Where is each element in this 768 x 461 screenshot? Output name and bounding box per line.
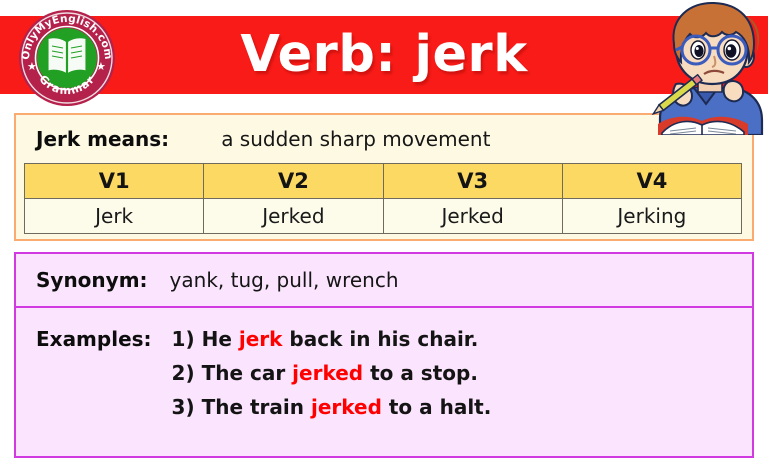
svg-text:★: ★ — [96, 60, 106, 73]
example-highlight: jerked — [311, 395, 382, 419]
examples-label: Examples: — [36, 322, 152, 356]
synonym-examples-panel: Synonym: yank, tug, pull, wrench Example… — [14, 252, 754, 458]
list-item: 3) The train jerked to a halt. — [172, 390, 492, 424]
list-item: 2) The car jerked to a stop. — [172, 356, 492, 390]
column-header-v3: V3 — [383, 164, 562, 199]
definition-value: a sudden sharp movement — [221, 127, 490, 151]
examples-row: Examples: 1) He jerk back in his chair. … — [16, 308, 752, 424]
site-logo: ★ ★ OnlyMyEnglish.com Grammar — [17, 8, 117, 108]
synonym-label: Synonym: — [36, 268, 148, 292]
example-text-after: to a halt. — [382, 395, 491, 419]
column-header-v4: V4 — [562, 164, 741, 199]
verb-forms-table: V1 V2 V3 V4 Jerk Jerked Jerked Jerking — [24, 163, 742, 234]
example-text-before: The car — [202, 361, 293, 385]
synonym-value: yank, tug, pull, wrench — [170, 268, 399, 292]
example-number: 3) — [172, 395, 195, 419]
verb-form-v4: Jerking — [562, 199, 741, 234]
examples-list: 1) He jerk back in his chair. 2) The car… — [172, 322, 492, 424]
verb-form-v2: Jerked — [204, 199, 383, 234]
example-number: 2) — [172, 361, 195, 385]
example-highlight: jerked — [292, 361, 363, 385]
verb-form-v1: Jerk — [25, 199, 204, 234]
verb-form-v3: Jerked — [383, 199, 562, 234]
open-book-icon — [48, 38, 86, 74]
list-item: 1) He jerk back in his chair. — [172, 322, 492, 356]
definition-label: Jerk means: — [36, 127, 169, 151]
example-text-after: to a stop. — [363, 361, 478, 385]
example-number: 1) — [172, 327, 195, 351]
table-header-row: V1 V2 V3 V4 — [25, 164, 742, 199]
example-highlight: jerk — [239, 327, 283, 351]
table-row: Jerk Jerked Jerked Jerking — [25, 199, 742, 234]
example-text-before: The train — [202, 395, 311, 419]
svg-text:★: ★ — [27, 60, 37, 73]
column-header-v1: V1 — [25, 164, 204, 199]
boy-studying-icon — [636, 0, 768, 135]
example-text-before: He — [202, 327, 239, 351]
column-header-v2: V2 — [204, 164, 383, 199]
example-text-after: back in his chair. — [282, 327, 478, 351]
synonym-row: Synonym: yank, tug, pull, wrench — [16, 254, 752, 308]
header-banner: Verb: jerk ★ ★ — [0, 0, 768, 112]
